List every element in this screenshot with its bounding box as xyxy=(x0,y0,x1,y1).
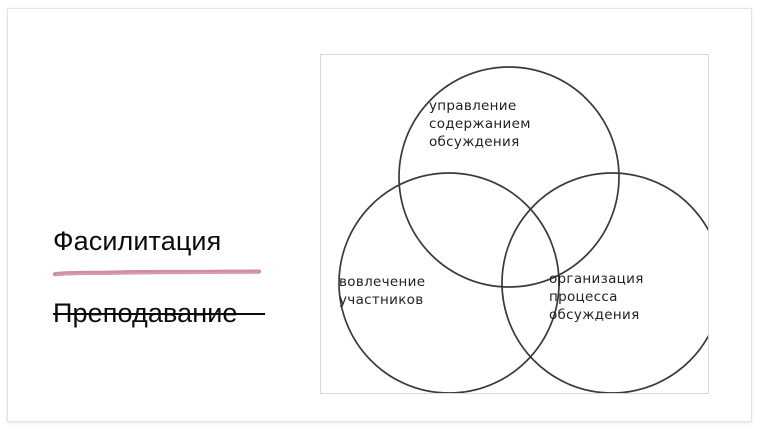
accent-underline xyxy=(53,269,261,277)
venn-diagram-frame: управление содержанием обсуждения вовлеч… xyxy=(320,54,709,394)
venn-label-top-line-2: содержанием xyxy=(429,115,589,133)
slide-canvas: Фасилитация Преподавание управление соде… xyxy=(7,8,752,422)
venn-label-top-line-1: управление xyxy=(429,97,589,115)
venn-label-left-line-2: участников xyxy=(339,291,489,309)
teaching-term: Преподавание xyxy=(53,294,265,333)
facilitation-term: Фасилитация xyxy=(53,224,268,258)
venn-label-top-line-3: обсуждения xyxy=(429,133,589,151)
venn-label-right-line-2: процесса xyxy=(549,288,699,306)
venn-label-left-line-1: вовлечение xyxy=(339,273,489,291)
venn-label-left: вовлечение участников xyxy=(339,273,489,309)
venn-label-top: управление содержанием обсуждения xyxy=(429,97,589,151)
venn-label-right-line-1: организация xyxy=(549,270,699,288)
venn-label-right-line-3: обсуждения xyxy=(549,306,699,324)
terms-text-block: Фасилитация Преподавание xyxy=(53,224,268,333)
venn-label-right: организация процесса обсуждения xyxy=(549,270,699,324)
strikethrough-line xyxy=(53,313,265,315)
